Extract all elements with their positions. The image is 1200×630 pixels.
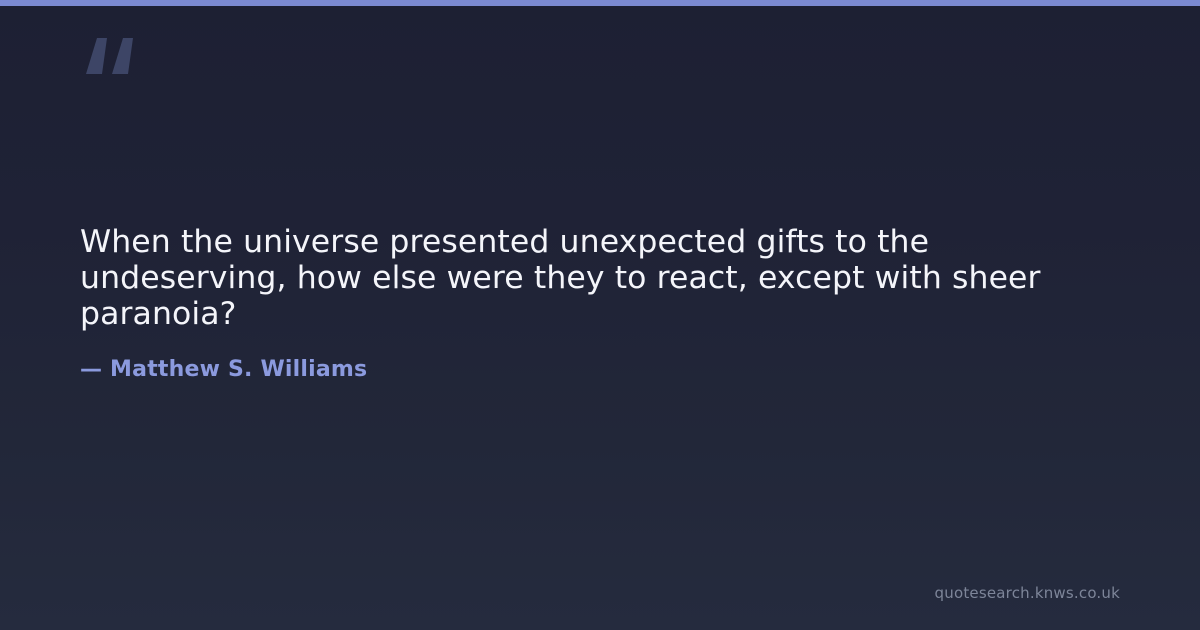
quote-text: When the universe presented unexpected g… bbox=[80, 224, 1090, 332]
quote-attribution: — Matthew S. Williams bbox=[80, 356, 367, 384]
top-accent-bar bbox=[0, 0, 1200, 6]
source-url-label: quotesearch.knws.co.uk bbox=[935, 583, 1120, 603]
quote-body: When the universe presented unexpected g… bbox=[80, 224, 1090, 332]
quote-card: When the universe presented unexpected g… bbox=[0, 0, 1200, 630]
double-quote-icon bbox=[80, 30, 140, 86]
